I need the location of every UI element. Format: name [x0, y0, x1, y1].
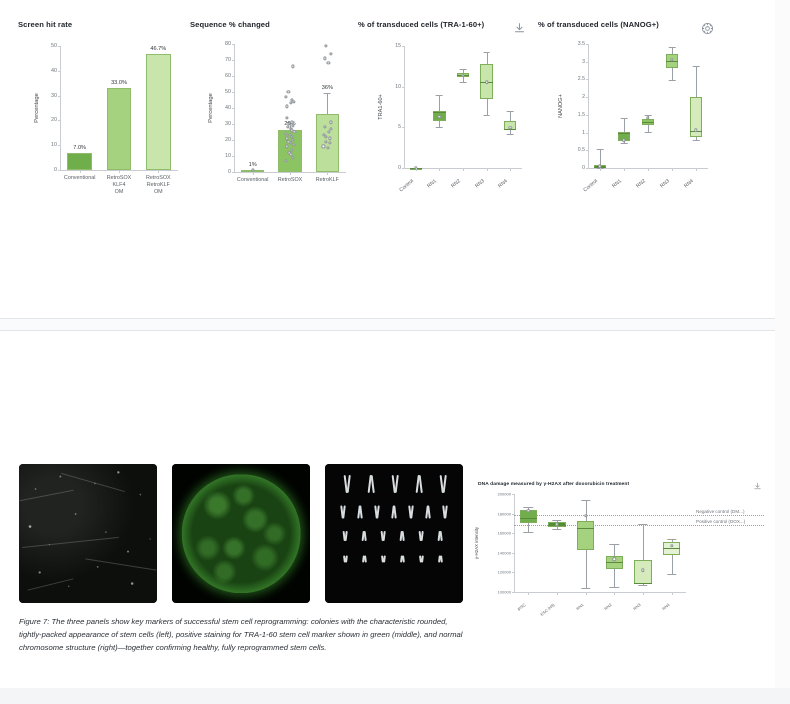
y-tick-label: 3.5	[568, 41, 585, 47]
median-line	[606, 562, 623, 563]
whisker-cap-lower	[460, 82, 467, 83]
x-tick-mark	[672, 592, 673, 595]
x-axis	[514, 592, 686, 593]
y-tick-mark	[586, 133, 589, 134]
chromosome	[418, 556, 423, 563]
y-tick-label: 0	[216, 169, 231, 175]
chromosome	[440, 475, 447, 493]
y-tick-mark	[512, 572, 515, 573]
micrograph-speckle-field	[19, 464, 157, 603]
y-tick-label: 0	[42, 167, 57, 173]
y-tick-label: 10	[216, 153, 231, 159]
y-tick-mark	[232, 92, 235, 93]
chromosome	[399, 556, 404, 563]
data-point	[290, 102, 293, 105]
y-tick-label: 20	[216, 137, 231, 143]
bar-value-label: 33.0%	[111, 80, 127, 86]
y-tick-label: 10	[388, 84, 401, 90]
y-tick-label: 120000	[482, 570, 511, 575]
whisker-cap-lower	[483, 115, 490, 116]
y-tick-label: 20	[42, 117, 57, 123]
chromosome	[442, 506, 448, 519]
reference-line-label: Positive control (DOX...)	[696, 519, 745, 524]
y-axis	[404, 46, 405, 168]
whisker-cap-lower	[638, 585, 647, 586]
download-icon[interactable]	[513, 22, 526, 35]
x-tick-label: Conventional	[64, 175, 95, 182]
section-band	[0, 319, 775, 330]
y-tick-mark	[58, 120, 61, 121]
y-tick-mark	[58, 71, 61, 72]
chart-tra-1-60: % of transduced cells (TRA-1-60+) 051015…	[358, 20, 536, 200]
whisker-cap-lower	[524, 532, 533, 533]
x-tick-mark	[614, 592, 615, 595]
whisker-cap-lower	[667, 574, 676, 575]
y-tick-label: 160000	[482, 531, 511, 536]
y-tick-mark	[402, 168, 405, 169]
y-tick-mark	[402, 127, 405, 128]
download-icon[interactable]	[753, 482, 762, 491]
whisker-cap-upper	[436, 95, 443, 96]
x-tick-mark	[290, 172, 291, 175]
whisker-cap-upper	[460, 69, 467, 70]
y-tick-label: 0	[388, 165, 401, 171]
median-line	[642, 122, 654, 123]
chromosome	[361, 556, 366, 563]
y-tick-mark	[586, 62, 589, 63]
y-axis-label: NANOG+	[558, 94, 564, 118]
x-tick-mark	[586, 592, 587, 595]
x-tick-mark	[643, 592, 644, 595]
y-tick-label: 2.5	[568, 76, 585, 82]
chromosome	[357, 506, 363, 519]
data-point	[287, 90, 290, 93]
y-tick-mark	[58, 145, 61, 146]
y-tick-label: 0	[568, 165, 585, 171]
y-tick-mark	[232, 44, 235, 45]
y-tick-label: 1.5	[568, 112, 585, 118]
y-tick-mark	[586, 150, 589, 151]
x-tick-mark	[119, 170, 120, 173]
y-axis-label: Percentage	[208, 93, 214, 123]
median-line	[663, 548, 680, 549]
y-tick-label: 40	[42, 68, 57, 74]
settings-icon[interactable]	[701, 22, 714, 35]
chromosome	[408, 506, 414, 519]
y-tick-label: 5	[388, 124, 401, 130]
y-tick-mark	[58, 170, 61, 171]
chromosome	[342, 531, 348, 541]
y-tick-label: 2	[568, 94, 585, 100]
y-tick-label: 0.5	[568, 147, 585, 153]
chart-title: Sequence % changed	[190, 20, 362, 29]
reference-line-label: Negative control (DM...)	[696, 509, 745, 514]
whisker-cap-lower	[436, 127, 443, 128]
data-point	[324, 44, 327, 47]
y-axis	[234, 44, 235, 172]
x-tick-mark	[600, 168, 601, 171]
chart-screen-hit-rate: Screen hit rate 01020304050Percentage7.0…	[18, 20, 193, 200]
median-line	[618, 133, 630, 134]
whisker-cap-lower	[621, 143, 628, 144]
error-bar-cap	[324, 93, 331, 94]
whisker-cap-lower	[693, 140, 700, 141]
y-axis-label: TRA1-60+	[378, 94, 384, 120]
x-tick-mark	[253, 172, 254, 175]
reference-line	[514, 515, 764, 516]
whisker-cap-upper	[693, 66, 700, 67]
chromosome	[437, 531, 443, 541]
bar-value-label: 1%	[249, 162, 257, 168]
x-tick-mark	[487, 168, 488, 171]
whisker-cap-lower	[581, 588, 590, 589]
x-tick-mark	[624, 168, 625, 171]
y-tick-mark	[58, 96, 61, 97]
whisker-cap-upper	[552, 520, 561, 521]
y-axis-label: γ-H2AX intensity	[474, 527, 479, 559]
y-tick-label: 70	[216, 57, 231, 63]
data-point	[329, 52, 332, 55]
chromosome	[392, 475, 399, 493]
x-tick-label: RetroSOX	[278, 177, 303, 184]
y-tick-label: 1	[568, 130, 585, 136]
data-point	[285, 116, 288, 119]
median-line	[433, 112, 445, 113]
whisker-cap-upper	[507, 111, 514, 112]
whisker-cap-upper	[524, 507, 533, 508]
chromosome	[380, 556, 385, 563]
y-tick-mark	[232, 60, 235, 61]
whisker-cap-lower	[645, 132, 652, 133]
y-tick-mark	[586, 44, 589, 45]
y-axis	[514, 494, 515, 592]
x-tick-mark	[439, 168, 440, 171]
y-tick-mark	[512, 553, 515, 554]
micrograph-green-colony	[172, 464, 310, 603]
whisker-cap-lower	[507, 134, 514, 135]
page-right-gutter	[775, 0, 790, 688]
x-tick-mark	[696, 168, 697, 171]
whisker-cap-upper	[638, 524, 647, 525]
y-tick-label: 50	[42, 43, 57, 49]
y-tick-mark	[232, 76, 235, 77]
x-tick-label: Conventional	[237, 177, 268, 184]
x-tick-mark	[158, 170, 159, 173]
y-tick-mark	[586, 97, 589, 98]
y-tick-mark	[512, 533, 515, 534]
x-tick-mark	[80, 170, 81, 173]
y-tick-mark	[586, 79, 589, 80]
whisker-cap-upper	[597, 149, 604, 150]
whisker-cap-upper	[667, 539, 676, 540]
median-line	[577, 528, 594, 529]
y-tick-label: 140000	[482, 550, 511, 555]
chromosome	[391, 506, 397, 519]
bar	[146, 54, 170, 170]
bar	[67, 153, 91, 170]
y-tick-mark	[232, 156, 235, 157]
bar-value-label: 36%	[322, 85, 333, 91]
y-tick-label: 30	[42, 93, 57, 99]
whisker-cap-upper	[669, 47, 676, 48]
median-line	[520, 518, 537, 519]
y-tick-label: 10	[42, 142, 57, 148]
x-tick-mark	[672, 168, 673, 171]
y-tick-mark	[586, 115, 589, 116]
y-axis	[60, 46, 61, 170]
y-tick-label: 180000	[482, 511, 511, 516]
y-tick-mark	[232, 124, 235, 125]
y-tick-label: 50	[216, 89, 231, 95]
x-tick-mark	[463, 168, 464, 171]
figure-panel-karyotype	[325, 464, 463, 603]
median-line	[634, 583, 651, 584]
whisker-cap-upper	[483, 52, 490, 53]
chart-dna-damage: DNA damage measured by γ-H2AX after doxo…	[478, 482, 770, 622]
chromosome	[418, 531, 424, 541]
whisker-cap-upper	[610, 544, 619, 545]
x-tick-mark	[528, 592, 529, 595]
bar-value-label: 46.7%	[150, 46, 166, 52]
chromosome	[425, 506, 431, 519]
y-tick-mark	[512, 494, 515, 495]
data-point	[584, 514, 587, 517]
data-point	[622, 139, 625, 142]
y-tick-mark	[58, 46, 61, 47]
y-tick-mark	[402, 87, 405, 88]
box	[577, 521, 594, 550]
figure-panel-tra-1-60-stain	[172, 464, 310, 603]
figure-panel-phase-contrast-colonies	[19, 464, 157, 603]
x-tick-mark	[557, 592, 558, 595]
chart-title: % of transduced cells (TRA-1-60+)	[358, 20, 536, 29]
x-tick-mark	[510, 168, 511, 171]
median-line	[666, 61, 678, 62]
x-tick-label: RetroKLF	[316, 177, 339, 184]
y-tick-mark	[232, 140, 235, 141]
error-bar	[327, 93, 328, 115]
y-tick-mark	[586, 168, 589, 169]
chromosome	[361, 531, 367, 541]
y-tick-label: 100000	[482, 590, 511, 595]
whisker-cap-lower	[669, 80, 676, 81]
figure-caption: Figure 7: The three panels show key mark…	[19, 615, 463, 655]
chromosome	[344, 475, 351, 493]
y-tick-mark	[232, 108, 235, 109]
x-tick-mark	[648, 168, 649, 171]
chart-nanog: % of transduced cells (NANOG+) 00.511.52…	[538, 20, 720, 200]
chromosome	[380, 531, 386, 541]
chart-title: DNA damage measured by γ-H2AX after doxo…	[478, 482, 770, 487]
chromosome	[416, 475, 423, 493]
chromosome	[340, 506, 346, 519]
data-point	[327, 62, 330, 65]
chart-title: % of transduced cells (NANOG+)	[538, 20, 720, 29]
y-tick-mark	[232, 172, 235, 173]
y-tick-label: 30	[216, 121, 231, 127]
whisker-cap-lower	[552, 529, 561, 530]
chromosome	[342, 556, 347, 563]
chromosome	[437, 556, 442, 563]
bar-value-label: 7.0%	[73, 145, 86, 151]
data-point	[323, 57, 326, 60]
box	[634, 560, 651, 583]
data-point	[292, 65, 295, 68]
y-tick-mark	[402, 46, 405, 47]
y-axis-label: Percentage	[34, 93, 40, 123]
x-tick-mark	[416, 168, 417, 171]
x-tick-label: RetroSOXKLF4OM	[107, 175, 132, 196]
chromosome	[368, 475, 375, 493]
y-tick-label: 200000	[482, 492, 511, 497]
y-tick-label: 3	[568, 59, 585, 65]
micrograph-karyotype	[325, 464, 463, 603]
chart-sequence-pct-changed: Sequence % changed 01020304050607080Perc…	[190, 20, 362, 200]
data-point	[286, 105, 289, 108]
y-tick-label: 80	[216, 41, 231, 47]
y-tick-label: 40	[216, 105, 231, 111]
y-tick-label: 15	[388, 43, 401, 49]
section-divider-bottom	[0, 330, 775, 331]
data-point	[292, 100, 295, 103]
page-footer-band	[0, 688, 790, 704]
data-point	[285, 95, 288, 98]
x-tick-label: RetroSOXRetroKLFOM	[146, 175, 171, 196]
x-tick-mark	[327, 172, 328, 175]
whisker-cap-lower	[610, 587, 619, 588]
chromosome	[374, 506, 380, 519]
whisker-cap-upper	[581, 500, 590, 501]
chromosome	[399, 531, 405, 541]
y-axis	[588, 44, 589, 168]
whisker-cap-upper	[621, 118, 628, 119]
y-tick-label: 60	[216, 73, 231, 79]
bar	[107, 88, 131, 170]
y-tick-mark	[512, 592, 515, 593]
